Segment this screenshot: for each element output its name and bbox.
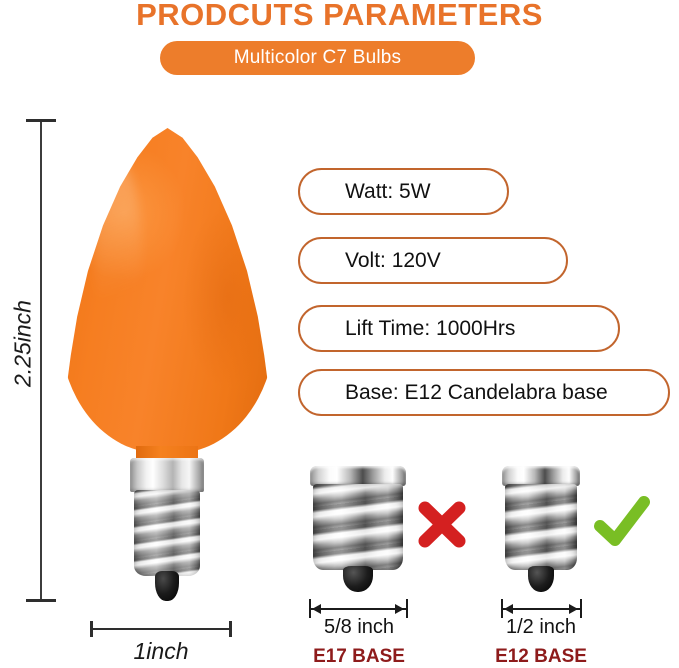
socket-rim (310, 466, 406, 486)
cross-icon (414, 496, 470, 552)
socket-threads (313, 484, 403, 570)
width-dimension-cap-right (229, 621, 232, 637)
width-dimension-label: 1inch (80, 638, 242, 665)
check-icon (594, 494, 650, 550)
e17-base-label: E17 BASE (296, 646, 422, 668)
spec-pill-life-time: Lift Time: 1000Hrs (298, 305, 620, 352)
product-bulb-illustration (52, 128, 282, 608)
socket-rim (502, 466, 580, 486)
bulb-base-threads (134, 490, 200, 576)
height-dimension-line (40, 120, 42, 602)
spec-pill-volt: Volt: 120V (298, 237, 568, 284)
socket-tip (528, 566, 554, 592)
spec-label: Base: E12 Candelabra base (345, 381, 608, 405)
height-dimension-label: 2.25inch (10, 274, 37, 414)
height-dimension-cap-bottom (26, 599, 56, 602)
width-dimension-line (90, 628, 232, 630)
e17-arrow-right (395, 604, 404, 614)
page-title: PRODCUTS PARAMETERS (0, 0, 679, 33)
e12-size-label: 1/2 inch (478, 616, 604, 639)
spec-label: Volt: 120V (345, 249, 441, 273)
spec-pill-watt: Watt: 5W (298, 168, 509, 215)
e12-arrow-left (504, 604, 513, 614)
subtitle-badge: Multicolor C7 Bulbs (160, 41, 475, 75)
e12-arrow-right (569, 604, 578, 614)
bulb-base-tip (155, 571, 179, 601)
bulb-base-collar (130, 458, 204, 492)
infographic-canvas: PRODCUTS PARAMETERS Multicolor C7 Bulbs … (0, 0, 679, 668)
socket-tip (343, 566, 373, 592)
spec-pill-base: Base: E12 Candelabra base (298, 369, 670, 416)
height-dimension-cap-top (26, 119, 56, 122)
base-comparison-e12: 1/2 inch E12 BASE (478, 466, 668, 666)
bulb-glass (60, 128, 275, 453)
e12-base-label: E12 BASE (478, 646, 604, 668)
socket-threads (505, 484, 577, 570)
spec-label: Watt: 5W (345, 180, 431, 204)
subtitle-label: Multicolor C7 Bulbs (234, 47, 401, 69)
width-dimension-cap-left (90, 621, 93, 637)
e17-arrow-left (312, 604, 321, 614)
e17-size-label: 5/8 inch (296, 616, 422, 639)
e17-dimension-line (310, 608, 406, 610)
spec-label: Lift Time: 1000Hrs (345, 317, 515, 341)
base-comparison-e17: 5/8 inch E17 BASE (296, 466, 476, 666)
